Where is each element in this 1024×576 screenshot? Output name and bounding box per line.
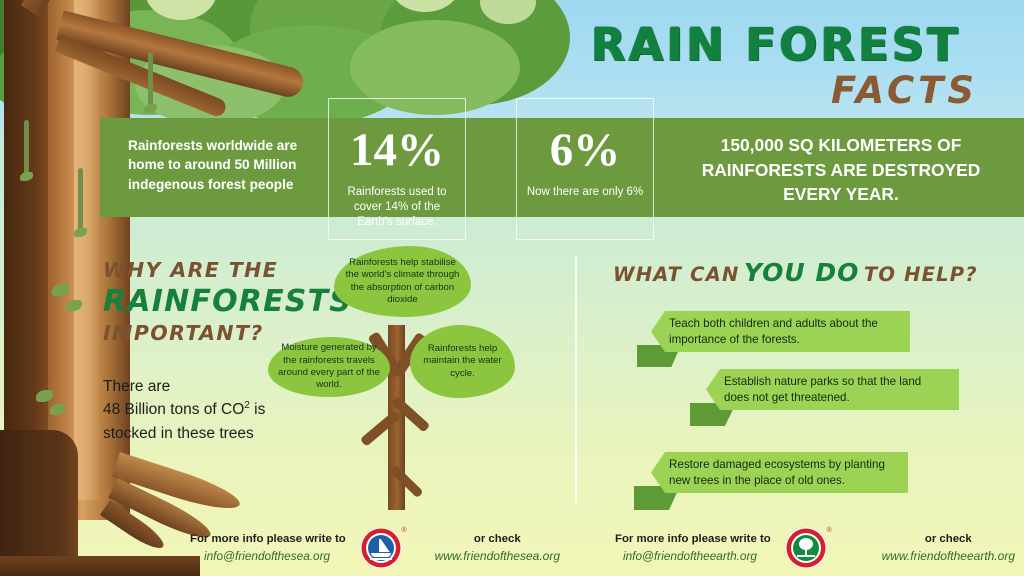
what-heading-part1: WHAT CAN xyxy=(613,263,739,286)
footer-email[interactable]: info@friendofthesea.org xyxy=(190,548,346,565)
banner-highlight-text: 150,000 SQ KILOMETERS OF RAINFORESTS ARE… xyxy=(676,133,1006,207)
small-tree-illustration xyxy=(330,285,490,525)
stat-value: 14% xyxy=(329,127,465,174)
footer-friend-of-the-earth: For more info please write to info@frien… xyxy=(615,524,1015,572)
stat-box-14-percent: 14% Rainforests used to cover 14% of the… xyxy=(328,98,466,240)
why-heading-line2: RAINFORESTS xyxy=(103,284,343,319)
footer-website[interactable]: www.friendoftheearth.org xyxy=(882,548,1015,565)
footer-contact-block: For more info please write to info@frien… xyxy=(190,531,346,565)
footer-or-check: or check xyxy=(474,531,521,548)
stat-caption: Now there are only 6% xyxy=(517,185,653,200)
co2-line3: stocked in these trees xyxy=(103,425,254,442)
fact-bubble-moisture: Moisture generated by the rainforests tr… xyxy=(268,337,390,397)
footer-write-label: For more info please write to xyxy=(190,531,346,548)
stat-box-6-percent: 6% Now there are only 6% xyxy=(516,98,654,240)
footer-email[interactable]: info@friendoftheearth.org xyxy=(615,548,771,565)
footer-web-block: or check www.friendofthesea.org xyxy=(435,531,560,565)
infographic-canvas: RAIN FOREST FACTS Rainforests worldwide … xyxy=(0,0,1024,576)
registered-mark: ® xyxy=(402,527,407,534)
footer-friend-of-the-sea: For more info please write to info@frien… xyxy=(190,524,560,572)
co2-line1: There are xyxy=(103,378,170,395)
footer-write-label: For more info please write to xyxy=(615,531,771,548)
fact-bubble-climate: Rainforests help stabilise the world's c… xyxy=(334,246,471,317)
action-ribbon-teach: Teach both children and adults about the… xyxy=(651,311,910,352)
why-heading-line1: WHY ARE THE xyxy=(103,258,343,282)
footer-or-check: or check xyxy=(925,531,972,548)
co2-line2b: is xyxy=(250,401,266,418)
what-heading-part2: YOU DO xyxy=(744,258,859,287)
banner-lead-text: Rainforests worldwide are home to around… xyxy=(128,136,328,194)
section-divider xyxy=(575,255,577,505)
friend-of-the-sea-logo: ® xyxy=(360,527,402,569)
friend-of-the-earth-logo: ® xyxy=(785,527,827,569)
footer-contact-block: For more info please write to info@frien… xyxy=(615,531,771,565)
footer-web-block: or check www.friendoftheearth.org xyxy=(882,531,1015,565)
why-section-heading: WHY ARE THE RAINFORESTS IMPORTANT? xyxy=(103,258,343,345)
stat-value: 6% xyxy=(517,127,653,174)
what-can-you-do-heading: WHAT CAN YOU DO TO HELP? xyxy=(613,258,978,287)
action-ribbon-nature-parks: Establish nature parks so that the land … xyxy=(706,369,959,410)
what-heading-part3: TO HELP? xyxy=(864,263,978,286)
stat-caption: Rainforests used to cover 14% of the Ear… xyxy=(329,185,465,231)
title-main: RAIN FOREST xyxy=(556,18,996,71)
footer-website[interactable]: www.friendofthesea.org xyxy=(435,548,560,565)
registered-mark: ® xyxy=(827,527,832,534)
co2-line2a: 48 Billion tons of CO xyxy=(103,401,244,418)
action-ribbon-restore: Restore damaged ecosystems by planting n… xyxy=(651,452,908,493)
